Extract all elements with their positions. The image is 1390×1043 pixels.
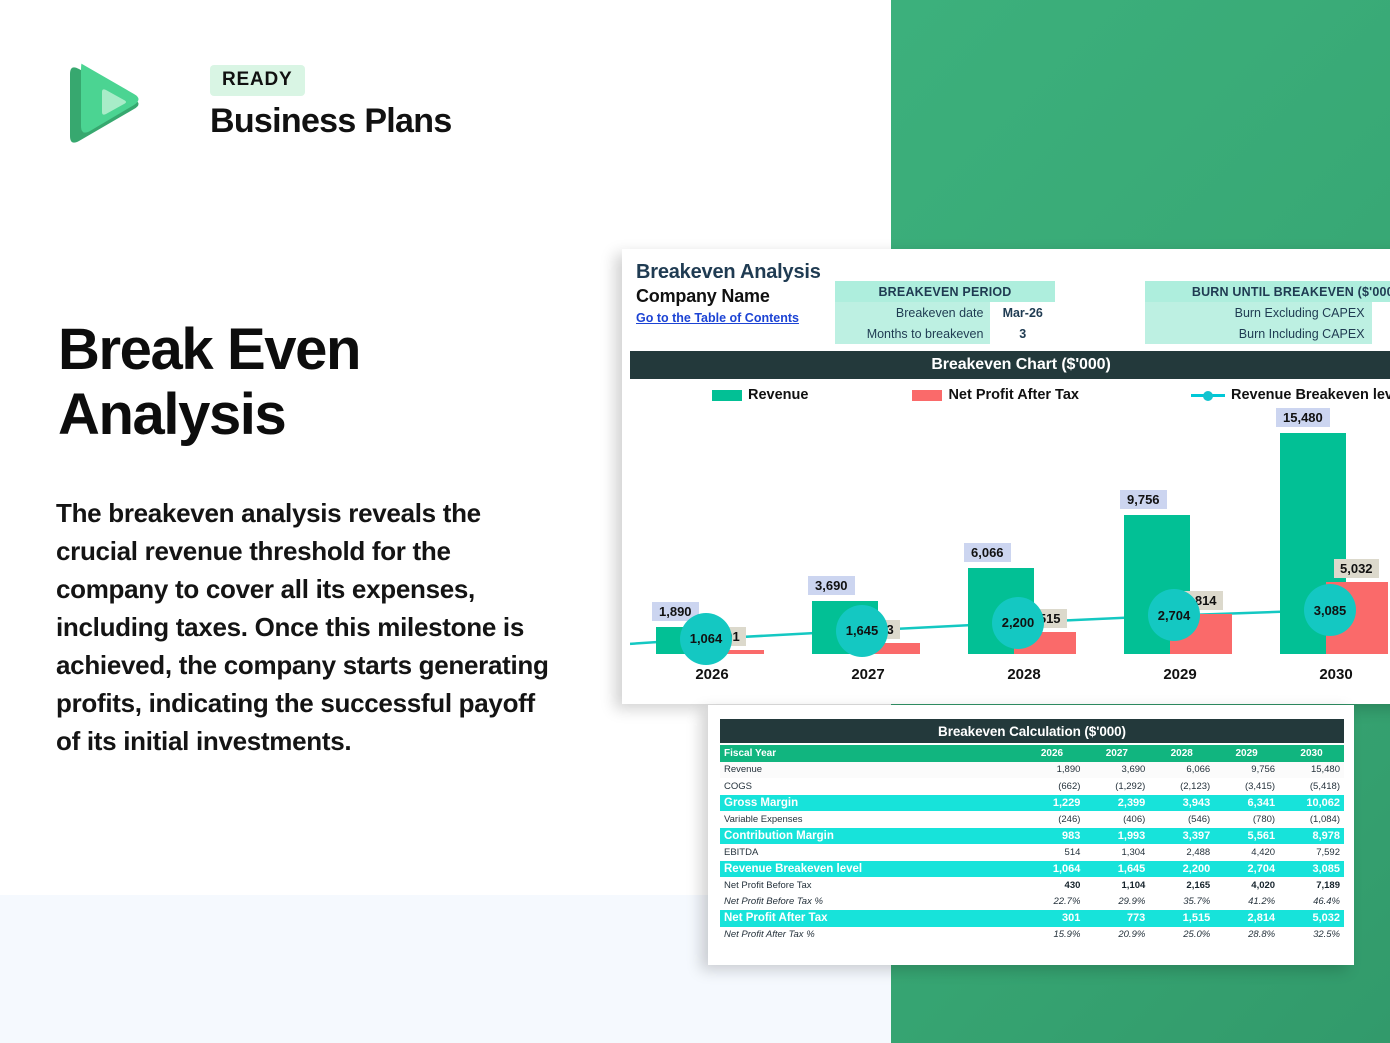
brand-wordmark: READY Business Plans <box>210 65 452 141</box>
chart-legend: Revenue Net Profit After Tax Revenue Bre… <box>630 383 1390 407</box>
breakeven-date-value: Mar-26 <box>990 302 1055 323</box>
row-value: 2,814 <box>1214 910 1279 927</box>
sheet-company-name: Company Name <box>636 286 821 307</box>
row-value: 1,515 <box>1149 910 1214 927</box>
row-value: 983 <box>1020 828 1085 845</box>
burn-including-capex-label: Burn Including CAPEX <box>1145 323 1372 344</box>
table-row: Net Profit After Tax %15.9%20.9%25.0%28.… <box>720 927 1344 944</box>
row-value: 7,189 <box>1279 877 1344 894</box>
row-value: 8,978 <box>1279 828 1344 845</box>
row-value: 2,399 <box>1084 795 1149 812</box>
chart-group-2029: 9,7562,8142,704 <box>1102 414 1258 654</box>
row-value: 28.8% <box>1214 927 1279 944</box>
table-row: Variable Expenses(246)(406)(546)(780)(1,… <box>720 811 1344 828</box>
row-value: (1,084) <box>1279 811 1344 828</box>
revenue-value-label: 3,690 <box>808 576 855 595</box>
chart-group-2030: 15,4805,0323,085 <box>1258 414 1390 654</box>
breakeven-period-header: BREAKEVEN PERIOD <box>835 281 1055 302</box>
chart-plot-area: 1,8903011,0643,6907731,6456,0661,5152,20… <box>630 414 1390 704</box>
legend-item-breakeven: Revenue Breakeven level <box>1191 387 1390 403</box>
row-value: (2,123) <box>1149 778 1214 795</box>
table-row: Net Profit Before Tax4301,1042,1654,0207… <box>720 877 1344 894</box>
legend-swatch-revenue-icon <box>712 390 742 401</box>
x-axis-label-2030: 2030 <box>1258 666 1390 683</box>
row-value: 4,020 <box>1214 877 1279 894</box>
row-label: Net Profit Before Tax % <box>720 894 1020 911</box>
row-value: 20.9% <box>1084 927 1149 944</box>
legend-label-breakeven: Revenue Breakeven level <box>1231 387 1390 403</box>
brand-name: Business Plans <box>210 102 452 141</box>
row-value: 35.7% <box>1149 894 1214 911</box>
row-value: (546) <box>1149 811 1214 828</box>
chart-group-2026: 1,8903011,064 <box>634 414 790 654</box>
row-value: 3,690 <box>1084 762 1149 779</box>
legend-item-revenue: Revenue <box>712 387 808 403</box>
row-value: 514 <box>1020 844 1085 861</box>
sheet-header: Breakeven Analysis Company Name Go to th… <box>636 261 821 327</box>
row-value: 7,592 <box>1279 844 1344 861</box>
breakeven-date-label: Breakeven date <box>835 302 990 323</box>
chart-title-bar: Breakeven Chart ($'000) <box>630 351 1390 379</box>
play-triangle-logo-icon <box>60 60 144 150</box>
row-value: 2,488 <box>1149 844 1214 861</box>
row-value: 1,104 <box>1084 877 1149 894</box>
legend-swatch-breakeven-line-icon <box>1191 390 1225 401</box>
row-value: 1,304 <box>1084 844 1149 861</box>
calc-title-bar: Breakeven Calculation ($'000) <box>720 719 1344 743</box>
x-axis-label-2028: 2028 <box>946 666 1102 683</box>
breakeven-chart-card: Breakeven Analysis Company Name Go to th… <box>622 249 1390 704</box>
column-header: 2029 <box>1214 745 1279 762</box>
x-axis-label-2027: 2027 <box>790 666 946 683</box>
brand-logo[interactable]: READY Business Plans <box>60 60 440 160</box>
table-of-contents-link[interactable]: Go to the Table of Contents <box>636 311 799 325</box>
burn-until-breakeven-table: BURN UNTIL BREAKEVEN ($'000) Burn Exclud… <box>1145 281 1390 344</box>
row-value: 4,420 <box>1214 844 1279 861</box>
row-value: 3,943 <box>1149 795 1214 812</box>
revenue-value-label: 6,066 <box>964 543 1011 562</box>
breakeven-period-table: BREAKEVEN PERIOD Breakeven date Mar-26 M… <box>835 281 1055 344</box>
table-row: Contribution Margin9831,9933,3975,5618,9… <box>720 828 1344 845</box>
row-value: (1,292) <box>1084 778 1149 795</box>
breakeven-marker[interactable]: 1,064 <box>680 613 732 665</box>
row-value: (5,418) <box>1279 778 1344 795</box>
chart-group-2027: 3,6907731,645 <box>790 414 946 654</box>
row-value: 5,561 <box>1214 828 1279 845</box>
ready-badge: READY <box>210 65 305 96</box>
legend-swatch-npat-icon <box>912 390 942 401</box>
row-value: 22.7% <box>1020 894 1085 911</box>
column-header: Fiscal Year <box>720 745 1020 762</box>
column-header: 2028 <box>1149 745 1214 762</box>
row-label: COGS <box>720 778 1020 795</box>
row-value: 6,341 <box>1214 795 1279 812</box>
revenue-value-label: 9,756 <box>1120 490 1167 509</box>
row-label: Net Profit After Tax <box>720 910 1020 927</box>
row-label: Net Profit Before Tax <box>720 877 1020 894</box>
table-row: Gross Margin1,2292,3993,9436,34110,062 <box>720 795 1344 812</box>
row-value: (3,415) <box>1214 778 1279 795</box>
row-value: 15.9% <box>1020 927 1085 944</box>
row-value: (662) <box>1020 778 1085 795</box>
row-value: 32.5% <box>1279 927 1344 944</box>
row-label: Revenue Breakeven level <box>720 861 1020 878</box>
revenue-value-label: 15,480 <box>1276 408 1330 427</box>
row-value: 25.0% <box>1149 927 1214 944</box>
row-value: 1,229 <box>1020 795 1085 812</box>
row-value: 1,645 <box>1084 861 1149 878</box>
table-row: Revenue1,8903,6906,0669,75615,480 <box>720 762 1344 779</box>
months-to-breakeven-label: Months to breakeven <box>835 323 990 344</box>
column-header: 2027 <box>1084 745 1149 762</box>
column-header: 2030 <box>1279 745 1344 762</box>
breakeven-marker[interactable]: 2,200 <box>992 597 1044 649</box>
row-value: 2,704 <box>1214 861 1279 878</box>
row-value: (406) <box>1084 811 1149 828</box>
row-value: 301 <box>1020 910 1085 927</box>
row-label: Contribution Margin <box>720 828 1020 845</box>
row-value: 2,200 <box>1149 861 1214 878</box>
row-label: Revenue <box>720 762 1020 779</box>
row-value: 15,480 <box>1279 762 1344 779</box>
page-title: Break Even Analysis <box>58 318 538 448</box>
burn-including-capex-value: (48.5) <box>1372 323 1390 344</box>
row-value: 1,890 <box>1020 762 1085 779</box>
table-row: EBITDA5141,3042,4884,4207,592 <box>720 844 1344 861</box>
row-value: 5,032 <box>1279 910 1344 927</box>
sheet-title: Breakeven Analysis <box>636 261 821 284</box>
row-value: 773 <box>1084 910 1149 927</box>
breakeven-marker[interactable]: 1,645 <box>836 605 888 657</box>
x-axis-label-2029: 2029 <box>1102 666 1258 683</box>
row-value: 3,397 <box>1149 828 1214 845</box>
table-row: Net Profit Before Tax %22.7%29.9%35.7%41… <box>720 894 1344 911</box>
page-description: The breakeven analysis reveals the cruci… <box>56 495 556 761</box>
row-value: 430 <box>1020 877 1085 894</box>
breakeven-calculation-card: Breakeven Calculation ($'000) Fiscal Yea… <box>708 705 1354 965</box>
row-value: 1,064 <box>1020 861 1085 878</box>
x-axis-label-2026: 2026 <box>634 666 790 683</box>
burn-header: BURN UNTIL BREAKEVEN ($'000) <box>1145 281 1390 302</box>
breakeven-calculation-table: Fiscal Year20262027202820292030Revenue1,… <box>720 745 1344 943</box>
table-row: Net Profit After Tax3017731,5152,8145,03… <box>720 910 1344 927</box>
table-row: COGS(662)(1,292)(2,123)(3,415)(5,418) <box>720 778 1344 795</box>
legend-label-revenue: Revenue <box>748 387 808 403</box>
table-row: Revenue Breakeven level1,0641,6452,2002,… <box>720 861 1344 878</box>
breakeven-marker[interactable]: 3,085 <box>1304 584 1356 636</box>
row-value: 2,165 <box>1149 877 1214 894</box>
table-header-row: Fiscal Year20262027202820292030 <box>720 745 1344 762</box>
row-label: Variable Expenses <box>720 811 1020 828</box>
row-label: Net Profit After Tax % <box>720 927 1020 944</box>
burn-excluding-capex-label: Burn Excluding CAPEX <box>1145 302 1372 323</box>
row-value: 6,066 <box>1149 762 1214 779</box>
npat-value-label: 5,032 <box>1334 559 1379 578</box>
row-value: (780) <box>1214 811 1279 828</box>
row-label: Gross Margin <box>720 795 1020 812</box>
row-value: (246) <box>1020 811 1085 828</box>
row-value: 3,085 <box>1279 861 1344 878</box>
row-value: 41.2% <box>1214 894 1279 911</box>
row-value: 10,062 <box>1279 795 1344 812</box>
burn-excluding-capex-value: (11.0) <box>1372 302 1390 323</box>
months-to-breakeven-value: 3 <box>990 323 1055 344</box>
row-value: 1,993 <box>1084 828 1149 845</box>
column-header: 2026 <box>1020 745 1085 762</box>
legend-label-npat: Net Profit After Tax <box>948 387 1079 403</box>
row-value: 9,756 <box>1214 762 1279 779</box>
chart-group-2028: 6,0661,5152,200 <box>946 414 1102 654</box>
legend-item-npat: Net Profit After Tax <box>912 387 1079 403</box>
row-value: 46.4% <box>1279 894 1344 911</box>
row-label: EBITDA <box>720 844 1020 861</box>
row-value: 29.9% <box>1084 894 1149 911</box>
